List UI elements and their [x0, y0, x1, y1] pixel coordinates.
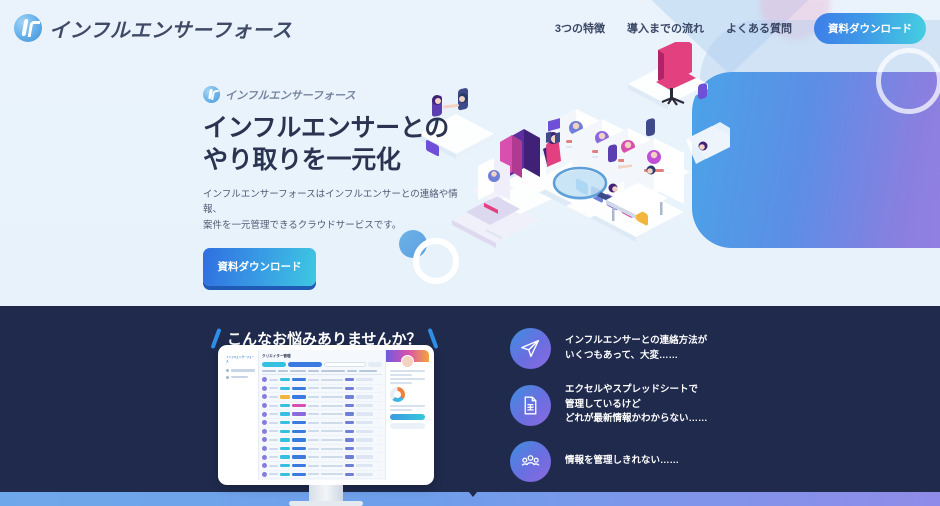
hero-ring-decoration — [876, 48, 940, 114]
problem-1-line1: インフルエンサーとの連絡方法が — [565, 335, 707, 346]
table-row[interactable] — [262, 471, 382, 480]
spreadsheet-icon — [510, 385, 551, 426]
nav-item-flow[interactable]: 導入までの流れ — [627, 20, 704, 36]
app-mockup-search-input[interactable] — [324, 362, 366, 367]
hero-eyebrow-logo-text: インフルエンサーフォース — [225, 87, 355, 103]
hero-description-line2: 案件を一元管理できるクラウドサービスです。 — [203, 220, 401, 231]
site-logo-text: インフルエンサーフォース — [49, 14, 292, 43]
main-nav: 3つの特徴 導入までの流れ よくある質問 資料ダウンロード — [555, 13, 926, 44]
nav-item-features[interactable]: 3つの特徴 — [555, 20, 605, 36]
hero-download-button[interactable]: 資料ダウンロード — [203, 248, 316, 286]
problem-list: インフルエンサーとの連絡方法が いくつもあって、大変…… エクセルやスプレッドシ… — [510, 328, 890, 496]
detail-donut-chart — [390, 387, 405, 402]
problem-item-text: インフルエンサーとの連絡方法が いくつもあって、大変…… — [565, 334, 707, 363]
table-row[interactable] — [262, 428, 382, 437]
app-mockup-secondary-button[interactable] — [288, 362, 322, 367]
sidebar-label-placeholder — [231, 369, 255, 371]
app-mockup-brand: インフルエンサーフォース — [226, 355, 255, 363]
detail-text-line — [390, 370, 425, 372]
problem-1-line2: いくつもあって、大変…… — [565, 350, 678, 361]
page-title: インフルエンサーとの やり取りを一元化 — [203, 112, 473, 176]
avatar — [262, 455, 267, 460]
app-mockup-toolbar — [262, 362, 382, 367]
site-logo[interactable]: インフルエンサーフォース — [14, 14, 292, 43]
avatar — [262, 429, 267, 434]
if-circle-logo-icon — [203, 86, 220, 103]
app-mockup-filter-button[interactable] — [368, 362, 382, 367]
detail-text-line — [390, 405, 425, 407]
hero-title-line1: インフルエンサーとの — [203, 114, 449, 142]
hero-eyebrow-logo: インフルエンサーフォース — [203, 86, 473, 103]
landing-page: インフルエンサーフォース インフルエンサーとの やり取りを一元化 インフルエンサ… — [0, 0, 940, 506]
avatar — [262, 377, 267, 382]
app-mockup-main: クリエイター管理 — [259, 350, 385, 480]
avatar — [262, 394, 267, 399]
table-row[interactable] — [262, 462, 382, 471]
table-row[interactable] — [262, 385, 382, 394]
problem-item-text: エクセルやスプレッドシートで 管理しているけど どれが最新情報かわからない…… — [565, 383, 708, 427]
app-mockup-detail-panel — [385, 350, 429, 480]
people-group-icon — [510, 441, 551, 482]
scroll-down-arrow-icon — [464, 486, 482, 497]
monitor-frame: インフルエンサーフォース クリエイター管理 — [218, 345, 434, 485]
problem-2-line3: どれが最新情報かわからない…… — [565, 413, 708, 424]
app-mockup-sidebar: インフルエンサーフォース — [223, 350, 259, 480]
problem-item-contact: インフルエンサーとの連絡方法が いくつもあって、大変…… — [510, 328, 890, 369]
avatar — [262, 403, 267, 408]
column-header — [278, 370, 288, 372]
avatar — [262, 437, 267, 442]
problem-item-spreadsheet: エクセルやスプレッドシートで 管理しているけど どれが最新情報かわからない…… — [510, 383, 890, 427]
problem-3-line1: 情報を管理しきれない…… — [565, 455, 679, 466]
paper-plane-icon — [510, 328, 551, 369]
app-mockup-page-title: クリエイター管理 — [262, 354, 382, 359]
avatar — [262, 446, 267, 451]
table-row[interactable] — [262, 445, 382, 454]
detail-text-line — [390, 409, 412, 411]
column-header — [262, 370, 276, 372]
app-mockup-table-header — [262, 370, 382, 375]
problem-2-line2: 管理しているけど — [565, 399, 641, 410]
detail-avatar — [401, 355, 414, 368]
hero-description: インフルエンサーフォースはインフルエンサーとの連絡や情報、 案件を一元管理できる… — [203, 187, 473, 233]
table-row[interactable] — [262, 376, 382, 385]
table-row[interactable] — [262, 419, 382, 428]
nav-item-faq[interactable]: よくある質問 — [726, 20, 792, 36]
avatar — [262, 420, 267, 425]
monitor-neck — [309, 485, 343, 501]
detail-text-line — [390, 382, 412, 384]
dot-icon — [226, 376, 229, 379]
column-header — [359, 370, 377, 372]
app-mockup-sidebar-item[interactable] — [226, 376, 255, 379]
column-header — [347, 370, 357, 372]
site-header: インフルエンサーフォース 3つの特徴 導入までの流れ よくある質問 資料ダウンロ… — [0, 0, 940, 56]
app-mockup-primary-button[interactable] — [262, 362, 286, 367]
table-row[interactable] — [262, 436, 382, 445]
table-row[interactable] — [262, 402, 382, 411]
column-header — [308, 370, 319, 372]
hero-copy: インフルエンサーフォース インフルエンサーとの やり取りを一元化 インフルエンサ… — [203, 86, 473, 286]
dot-icon — [226, 369, 229, 372]
detail-secondary-button[interactable] — [390, 423, 425, 429]
table-row[interactable] — [262, 453, 382, 462]
table-row[interactable] — [262, 410, 382, 419]
column-header — [321, 370, 345, 372]
avatar — [262, 386, 267, 391]
app-mockup: インフルエンサーフォース クリエイター管理 — [223, 350, 429, 480]
if-circle-logo-icon — [14, 14, 42, 42]
sidebar-label-placeholder — [231, 376, 248, 378]
table-row[interactable] — [262, 393, 382, 402]
column-header — [290, 370, 306, 372]
problem-item-text: 情報を管理しきれない…… — [565, 454, 679, 469]
detail-text-line — [390, 378, 425, 380]
app-mockup-sidebar-item[interactable] — [226, 369, 255, 372]
problem-item-management: 情報を管理しきれない…… — [510, 441, 890, 482]
detail-text-line — [390, 374, 412, 376]
problem-2-line1: エクセルやスプレッドシートで — [565, 384, 698, 395]
detail-primary-button[interactable] — [390, 414, 425, 420]
avatar — [262, 472, 267, 477]
avatar — [262, 412, 267, 417]
product-screenshot-monitor: インフルエンサーフォース クリエイター管理 — [218, 345, 434, 490]
hero-description-line1: インフルエンサーフォースはインフルエンサーとの連絡や情報、 — [203, 189, 458, 215]
header-download-button[interactable]: 資料ダウンロード — [814, 13, 926, 44]
avatar — [262, 463, 267, 468]
monitor-base — [289, 501, 363, 506]
hero-title-line2: やり取りを一元化 — [203, 146, 401, 174]
